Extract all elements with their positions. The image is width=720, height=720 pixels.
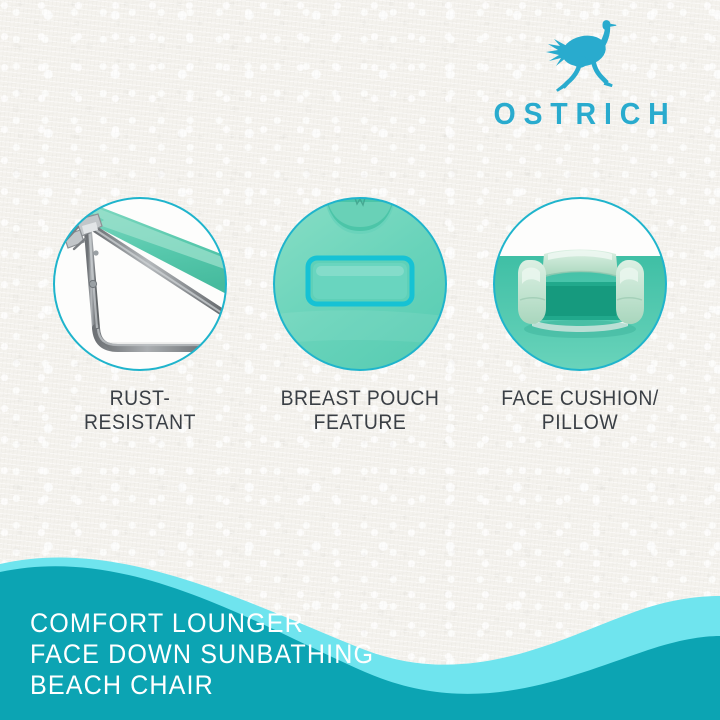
caption-line-2: RESISTANT — [37, 410, 242, 434]
infographic-canvas: OSTRICH — [0, 0, 720, 720]
feature-image-rust-resistant — [52, 196, 228, 372]
feature-caption-rust-resistant: RUST- RESISTANT — [37, 386, 242, 434]
caption-line-2: PILLOW — [477, 410, 682, 434]
product-title-line-2: FACE DOWN SUNBATHING — [30, 639, 514, 670]
brand-logo: OSTRICH — [470, 18, 700, 128]
product-title-line-1: COMFORT LOUNGER — [30, 608, 514, 639]
feature-row: RUST- RESISTANT — [0, 196, 720, 456]
feature-caption-face-cushion: FACE CUSHION/ PILLOW — [477, 386, 682, 434]
feature-breast-pouch: BREAST POUCH FEATURE — [240, 196, 480, 456]
ostrich-bird-icon — [536, 18, 636, 94]
caption-line-1: BREAST POUCH — [257, 386, 462, 410]
caption-line-1: RUST- — [37, 386, 242, 410]
feature-rust-resistant: RUST- RESISTANT — [20, 196, 260, 456]
brand-wordmark: OSTRICH — [479, 96, 691, 132]
product-title-line-3: BEACH CHAIR — [30, 670, 514, 701]
caption-line-1: FACE CUSHION/ — [477, 386, 682, 410]
caption-line-2: FEATURE — [257, 410, 462, 434]
bottom-wave-banner: COMFORT LOUNGER FACE DOWN SUNBATHING BEA… — [0, 520, 720, 720]
feature-face-cushion: FACE CUSHION/ PILLOW — [460, 196, 700, 456]
feature-caption-breast-pouch: BREAST POUCH FEATURE — [257, 386, 462, 434]
product-title: COMFORT LOUNGER FACE DOWN SUNBATHING BEA… — [30, 608, 514, 701]
feature-image-breast-pouch — [272, 196, 448, 372]
feature-image-face-cushion — [492, 196, 668, 372]
